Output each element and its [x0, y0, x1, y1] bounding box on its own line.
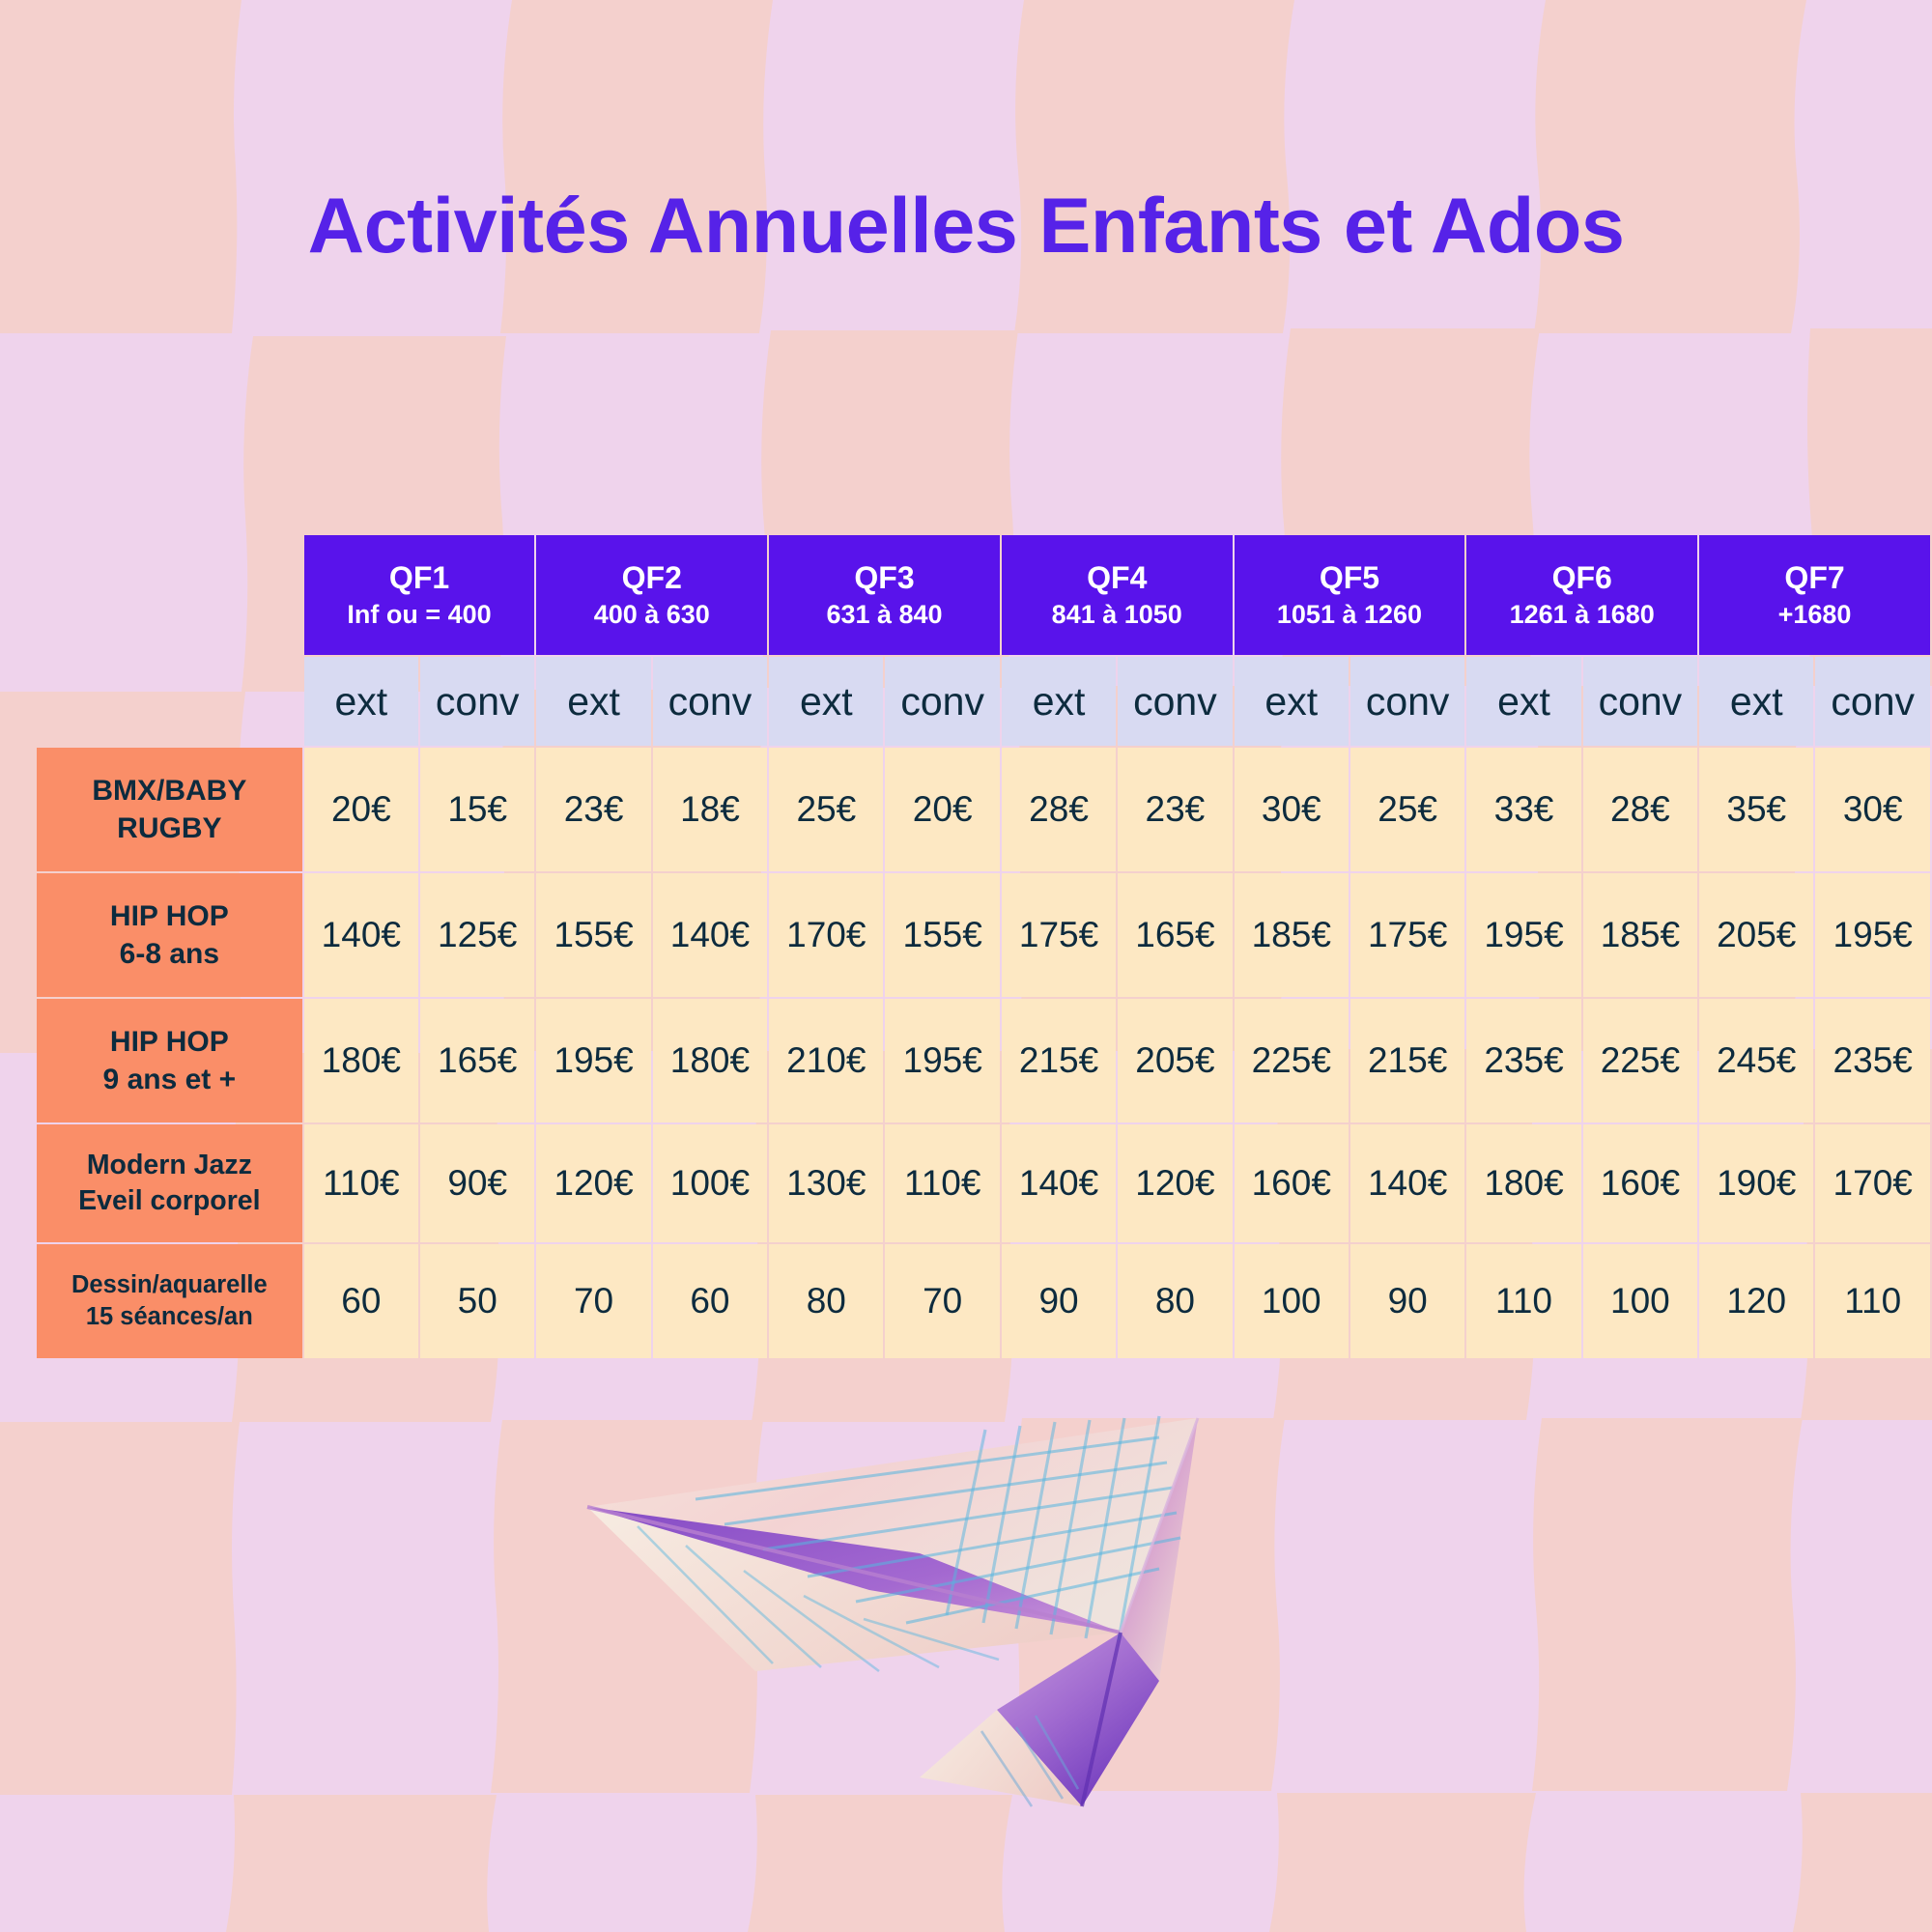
cell-r3-c8: 160€: [1235, 1124, 1349, 1242]
cell-r1-c9: 175€: [1350, 873, 1464, 997]
cell-r4-c10: 110: [1466, 1244, 1580, 1358]
row-label-line2: 9 ans et +: [37, 1061, 302, 1098]
cell-r4-c6: 90: [1002, 1244, 1116, 1358]
cell-r4-c12: 120: [1699, 1244, 1813, 1358]
qf5-name: QF5: [1235, 558, 1465, 598]
cell-r1-c12: 205€: [1699, 873, 1813, 997]
column-group-qf4: QF4 841 à 1050: [1002, 535, 1233, 655]
qf2-range: 400 à 630: [536, 598, 767, 632]
paper-airplane-illustration: [580, 1391, 1352, 1835]
cell-r0-c13: 30€: [1815, 748, 1930, 871]
cell-r3-c12: 190€: [1699, 1124, 1813, 1242]
column-group-qf1: QF1 Inf ou = 400: [304, 535, 535, 655]
cell-r4-c5: 70: [885, 1244, 999, 1358]
table-header-row-subcolumns: ext conv ext conv ext conv ext conv ext …: [37, 657, 1930, 746]
row-label-hip-hop-6-8-ans: HIP HOP 6-8 ans: [37, 873, 302, 997]
cell-r0-c7: 23€: [1118, 748, 1232, 871]
cell-r4-c13: 110: [1815, 1244, 1930, 1358]
cell-r0-c1: 15€: [420, 748, 534, 871]
qf4-name: QF4: [1002, 558, 1233, 598]
row-label-line2: RUGBY: [37, 810, 302, 847]
qf4-range: 841 à 1050: [1002, 598, 1233, 632]
table-corner-cell-2: [37, 657, 302, 746]
qf3-name: QF3: [769, 558, 1000, 598]
table-row: HIP HOP 6-8 ans 140€ 125€ 155€ 140€ 170€…: [37, 873, 1930, 997]
table-row: BMX/BABY RUGBY 20€ 15€ 23€ 18€ 25€ 20€ 2…: [37, 748, 1930, 871]
cell-r3-c4: 130€: [769, 1124, 883, 1242]
cell-r3-c5: 110€: [885, 1124, 999, 1242]
cell-r3-c1: 90€: [420, 1124, 534, 1242]
subheader-qf3-conv: conv: [885, 657, 999, 746]
row-label-line1: HIP HOP: [37, 897, 302, 935]
cell-r2-c6: 215€: [1002, 999, 1116, 1122]
poster-canvas: Activités Annuelles Enfants et Ados: [0, 0, 1932, 1932]
row-label-line1: BMX/BABY: [37, 772, 302, 810]
subheader-qf5-conv: conv: [1350, 657, 1464, 746]
qf6-name: QF6: [1466, 558, 1697, 598]
row-label-line1: Modern Jazz: [37, 1148, 302, 1183]
row-label-dessin-aquarelle: Dessin/aquarelle 15 séances/an: [37, 1244, 302, 1358]
cell-r1-c5: 155€: [885, 873, 999, 997]
cell-r3-c11: 160€: [1583, 1124, 1697, 1242]
cell-r4-c2: 70: [536, 1244, 650, 1358]
cell-r3-c13: 170€: [1815, 1124, 1930, 1242]
cell-r1-c7: 165€: [1118, 873, 1232, 997]
row-label-line2: 15 séances/an: [37, 1301, 302, 1333]
qf2-name: QF2: [536, 558, 767, 598]
cell-r4-c3: 60: [653, 1244, 767, 1358]
subheader-qf2-conv: conv: [653, 657, 767, 746]
cell-r0-c5: 20€: [885, 748, 999, 871]
cell-r2-c11: 225€: [1583, 999, 1697, 1122]
cell-r2-c2: 195€: [536, 999, 650, 1122]
subheader-qf5-ext: ext: [1235, 657, 1349, 746]
cell-r0-c0: 20€: [304, 748, 418, 871]
cell-r1-c8: 185€: [1235, 873, 1349, 997]
column-group-qf2: QF2 400 à 630: [536, 535, 767, 655]
cell-r4-c7: 80: [1118, 1244, 1232, 1358]
qf6-range: 1261 à 1680: [1466, 598, 1697, 632]
subheader-qf4-ext: ext: [1002, 657, 1116, 746]
cell-r2-c3: 180€: [653, 999, 767, 1122]
row-label-line1: HIP HOP: [37, 1023, 302, 1061]
cell-r1-c6: 175€: [1002, 873, 1116, 997]
table-row: Modern Jazz Eveil corporel 110€ 90€ 120€…: [37, 1124, 1930, 1242]
cell-r0-c8: 30€: [1235, 748, 1349, 871]
cell-r1-c4: 170€: [769, 873, 883, 997]
cell-r0-c6: 28€: [1002, 748, 1116, 871]
cell-r0-c4: 25€: [769, 748, 883, 871]
cell-r4-c11: 100: [1583, 1244, 1697, 1358]
cell-r1-c0: 140€: [304, 873, 418, 997]
column-group-qf3: QF3 631 à 840: [769, 535, 1000, 655]
subheader-qf2-ext: ext: [536, 657, 650, 746]
subheader-qf6-ext: ext: [1466, 657, 1580, 746]
qf7-range: +1680: [1699, 598, 1930, 632]
cell-r4-c1: 50: [420, 1244, 534, 1358]
qf7-name: QF7: [1699, 558, 1930, 598]
cell-r2-c13: 235€: [1815, 999, 1930, 1122]
table-corner-cell: [37, 535, 302, 655]
cell-r4-c0: 60: [304, 1244, 418, 1358]
cell-r2-c9: 215€: [1350, 999, 1464, 1122]
row-label-line2: 6-8 ans: [37, 935, 302, 973]
row-label-modern-jazz-eveil-corporel: Modern Jazz Eveil corporel: [37, 1124, 302, 1242]
cell-r4-c8: 100: [1235, 1244, 1349, 1358]
subheader-qf3-ext: ext: [769, 657, 883, 746]
cell-r3-c9: 140€: [1350, 1124, 1464, 1242]
cell-r4-c9: 90: [1350, 1244, 1464, 1358]
qf1-name: QF1: [304, 558, 535, 598]
qf1-range: Inf ou = 400: [304, 598, 535, 632]
cell-r0-c2: 23€: [536, 748, 650, 871]
cell-r2-c7: 205€: [1118, 999, 1232, 1122]
cell-r3-c6: 140€: [1002, 1124, 1116, 1242]
cell-r3-c0: 110€: [304, 1124, 418, 1242]
cell-r0-c11: 28€: [1583, 748, 1697, 871]
pricing-table-container: QF1 Inf ou = 400 QF2 400 à 630 QF3 631 à…: [35, 533, 1932, 1360]
subheader-qf7-ext: ext: [1699, 657, 1813, 746]
subheader-qf1-conv: conv: [420, 657, 534, 746]
cell-r1-c13: 195€: [1815, 873, 1930, 997]
cell-r1-c10: 195€: [1466, 873, 1580, 997]
subheader-qf1-ext: ext: [304, 657, 418, 746]
qf5-range: 1051 à 1260: [1235, 598, 1465, 632]
column-group-qf5: QF5 1051 à 1260: [1235, 535, 1465, 655]
cell-r0-c12: 35€: [1699, 748, 1813, 871]
table-row: HIP HOP 9 ans et + 180€ 165€ 195€ 180€ 2…: [37, 999, 1930, 1122]
cell-r3-c3: 100€: [653, 1124, 767, 1242]
cell-r0-c10: 33€: [1466, 748, 1580, 871]
pricing-table: QF1 Inf ou = 400 QF2 400 à 630 QF3 631 à…: [35, 533, 1932, 1360]
table-header-row-groups: QF1 Inf ou = 400 QF2 400 à 630 QF3 631 à…: [37, 535, 1930, 655]
row-label-line2: Eveil corporel: [37, 1183, 302, 1219]
cell-r2-c10: 235€: [1466, 999, 1580, 1122]
subheader-qf6-conv: conv: [1583, 657, 1697, 746]
cell-r4-c4: 80: [769, 1244, 883, 1358]
table-row: Dessin/aquarelle 15 séances/an 60 50 70 …: [37, 1244, 1930, 1358]
subheader-qf7-conv: conv: [1815, 657, 1930, 746]
cell-r1-c1: 125€: [420, 873, 534, 997]
cell-r3-c2: 120€: [536, 1124, 650, 1242]
cell-r2-c0: 180€: [304, 999, 418, 1122]
cell-r2-c1: 165€: [420, 999, 534, 1122]
column-group-qf6: QF6 1261 à 1680: [1466, 535, 1697, 655]
row-label-hip-hop-9-ans-et-plus: HIP HOP 9 ans et +: [37, 999, 302, 1122]
column-group-qf7: QF7 +1680: [1699, 535, 1930, 655]
cell-r3-c7: 120€: [1118, 1124, 1232, 1242]
cell-r0-c3: 18€: [653, 748, 767, 871]
cell-r1-c11: 185€: [1583, 873, 1697, 997]
row-label-line1: Dessin/aquarelle: [37, 1269, 302, 1301]
cell-r2-c8: 225€: [1235, 999, 1349, 1122]
subheader-qf4-conv: conv: [1118, 657, 1232, 746]
cell-r2-c5: 195€: [885, 999, 999, 1122]
cell-r1-c3: 140€: [653, 873, 767, 997]
cell-r0-c9: 25€: [1350, 748, 1464, 871]
cell-r3-c10: 180€: [1466, 1124, 1580, 1242]
cell-r2-c12: 245€: [1699, 999, 1813, 1122]
row-label-bmx-baby-rugby: BMX/BABY RUGBY: [37, 748, 302, 871]
cell-r2-c4: 210€: [769, 999, 883, 1122]
qf3-range: 631 à 840: [769, 598, 1000, 632]
cell-r1-c2: 155€: [536, 873, 650, 997]
page-title: Activités Annuelles Enfants et Ados: [0, 182, 1932, 271]
